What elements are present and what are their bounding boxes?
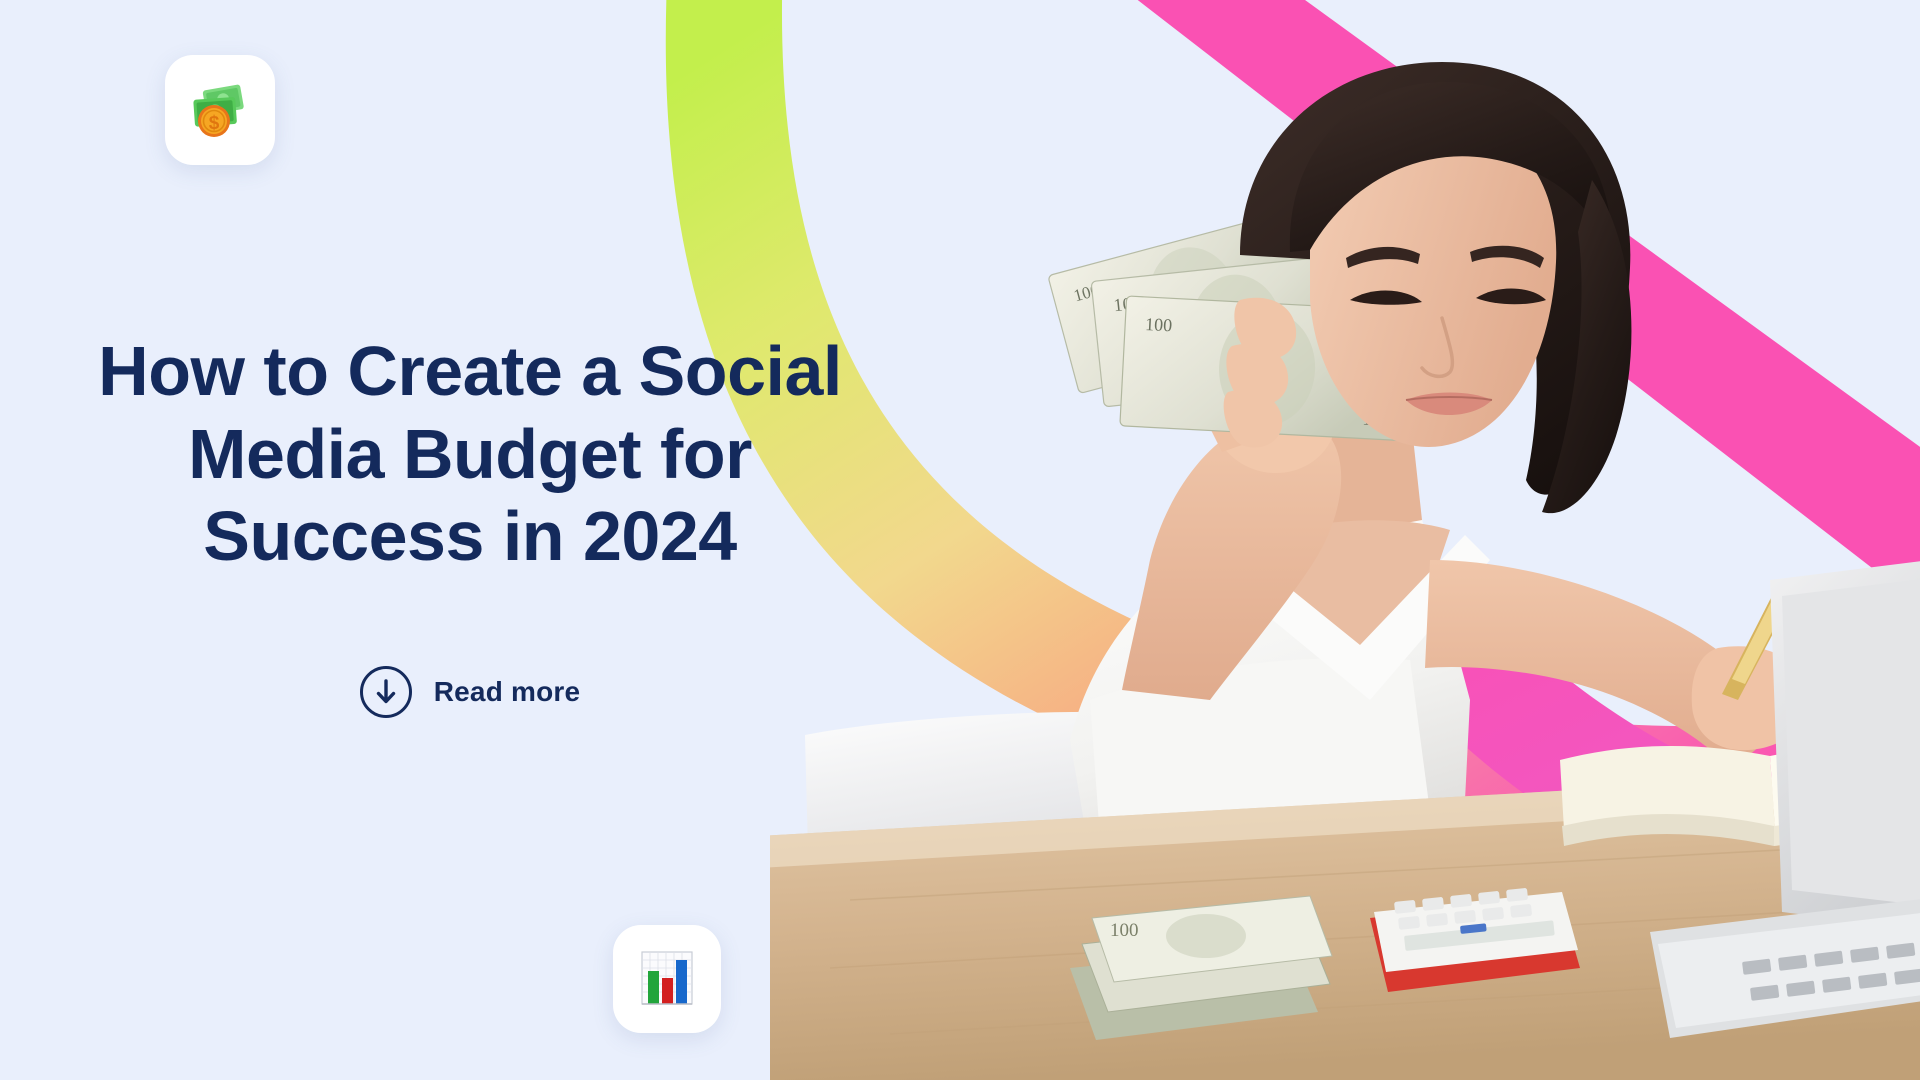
svg-text:100: 100 bbox=[1110, 920, 1139, 941]
headline-line-3: Success in 2024 bbox=[70, 495, 870, 578]
bar-chart-icon bbox=[633, 945, 701, 1013]
circle-arrow-down-icon[interactable] bbox=[360, 666, 412, 718]
headline-line-1: How to Create a Social bbox=[70, 330, 870, 413]
svg-text:$: $ bbox=[209, 113, 220, 134]
money-banknotes-icon: $ bbox=[184, 74, 256, 146]
read-more-label: Read more bbox=[434, 676, 581, 708]
money-badge[interactable]: $ bbox=[165, 55, 275, 165]
blue-bar bbox=[676, 960, 687, 1004]
headline-line-2: Media Budget for bbox=[70, 413, 870, 496]
read-more-link[interactable]: Read more bbox=[360, 666, 581, 718]
blog-banner: 100 100 100 100 100 100 bbox=[0, 0, 1920, 1080]
red-bar bbox=[662, 978, 673, 1004]
hero-text-block: How to Create a Social Media Budget for … bbox=[0, 330, 940, 718]
woman-counting-money-photo: 100 100 100 100 100 100 bbox=[770, 0, 1920, 1080]
green-bar bbox=[648, 971, 659, 1004]
page-title: How to Create a Social Media Budget for … bbox=[0, 330, 940, 578]
svg-text:100: 100 bbox=[1145, 314, 1173, 335]
bar-chart-badge[interactable] bbox=[613, 925, 721, 1033]
